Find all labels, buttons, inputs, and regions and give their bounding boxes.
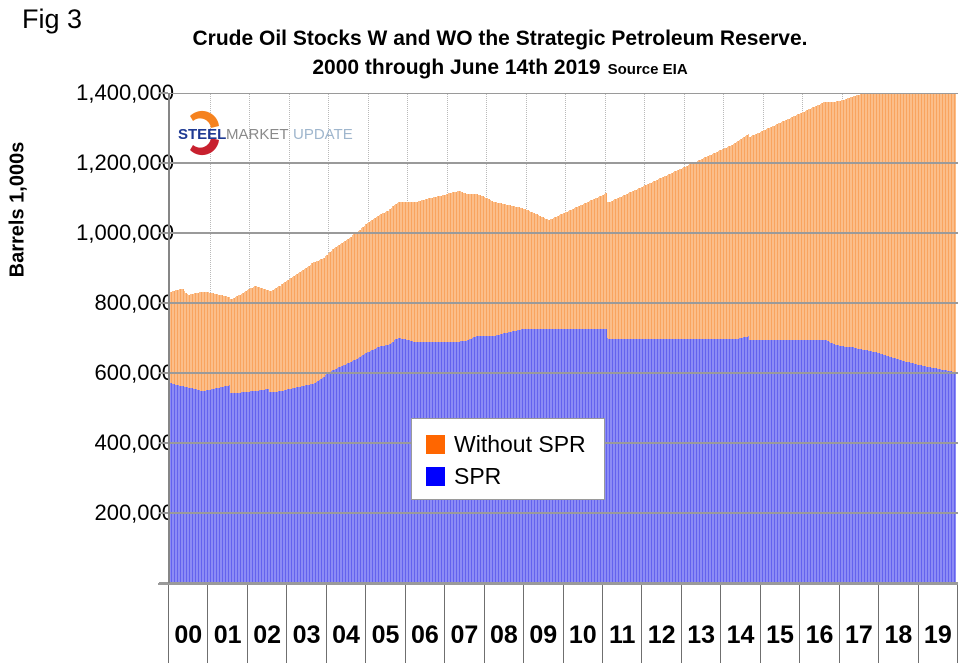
- x-axis-cell-12: 12: [641, 585, 680, 663]
- steel-market-update-logo: STEEL MARKET UPDATE: [176, 107, 356, 159]
- figure-label: Fig 3: [22, 4, 82, 35]
- x-tick-label-19: 19: [924, 599, 952, 650]
- x-axis-cell-08: 08: [484, 585, 523, 663]
- x-axis-cell-00: 00: [168, 585, 207, 663]
- chart-subtitle-row: 2000 through June 14th 2019Source EIA: [120, 54, 880, 83]
- x-axis-cell-01: 01: [207, 585, 246, 663]
- y-tick-mark-0: [159, 582, 168, 584]
- x-axis-cell-03: 03: [286, 585, 325, 663]
- x-axis-cell-04: 04: [326, 585, 365, 663]
- logo-word-market: MARKET: [226, 126, 289, 143]
- legend-swatch-without-spr: [426, 435, 445, 454]
- gridline-200000: [170, 512, 958, 514]
- y-tick-mark-1400000: [159, 92, 168, 94]
- legend-label-spr: SPR: [454, 465, 501, 488]
- x-tick-label-04: 04: [332, 599, 360, 650]
- x-tick-label-11: 11: [609, 599, 635, 650]
- y-tick-mark-1000000: [159, 232, 168, 234]
- logo-word-steel: STEEL: [178, 126, 226, 143]
- x-axis-cell-19: 19: [918, 585, 958, 663]
- x-tick-label-06: 06: [411, 599, 439, 650]
- x-tick-label-12: 12: [648, 599, 676, 650]
- x-tick-label-16: 16: [806, 599, 834, 650]
- y-tick-mark-200000: [159, 512, 168, 514]
- plot-area: [168, 93, 958, 583]
- x-axis-cell-18: 18: [878, 585, 917, 663]
- gridline-800000: [170, 302, 958, 304]
- x-axis-cells: 0001020304050607080910111213141516171819: [168, 585, 958, 663]
- x-tick-label-18: 18: [884, 599, 912, 650]
- bar-column: [955, 93, 957, 583]
- x-axis-cell-14: 14: [720, 585, 759, 663]
- x-tick-label-08: 08: [490, 599, 518, 650]
- y-tick-label-0: -: [14, 570, 174, 596]
- y-tick-label-600000: 600,000: [14, 360, 174, 386]
- y-axis-title: Barrels 1,000s: [7, 110, 30, 310]
- x-tick-label-07: 07: [450, 599, 478, 650]
- x-axis-cell-10: 10: [563, 585, 602, 663]
- plot-inner: [170, 93, 958, 583]
- x-tick-label-10: 10: [569, 599, 597, 650]
- y-tick-label-1400000: 1,400,000: [14, 80, 174, 106]
- y-tick-label-800000: 800,000: [14, 290, 174, 316]
- legend-item-without-spr[interactable]: Without SPR: [426, 428, 604, 460]
- x-tick-label-01: 01: [214, 599, 242, 650]
- x-tick-label-15: 15: [766, 599, 794, 650]
- chart-legend: Without SPR SPR: [411, 418, 605, 500]
- x-axis-cell-07: 07: [444, 585, 483, 663]
- x-axis-cell-15: 15: [760, 585, 799, 663]
- x-tick-label-00: 00: [174, 599, 202, 650]
- y-tick-mark-600000: [159, 372, 168, 374]
- legend-item-spr[interactable]: SPR: [426, 460, 604, 492]
- x-axis-cell-11: 11: [602, 585, 641, 663]
- logo-word-update: UPDATE: [293, 126, 353, 143]
- x-tick-label-14: 14: [727, 599, 755, 650]
- x-axis-cell-09: 09: [523, 585, 562, 663]
- y-tick-mark-400000: [159, 442, 168, 444]
- x-tick-label-17: 17: [845, 599, 873, 650]
- x-axis: 0001020304050607080910111213141516171819: [168, 583, 958, 663]
- chart-title: Crude Oil Stocks W and WO the Strategic …: [120, 25, 880, 52]
- x-axis-cell-05: 05: [365, 585, 404, 663]
- y-tick-mark-1200000: [159, 162, 168, 164]
- gridline-1200000: [170, 162, 958, 164]
- y-tick-mark-800000: [159, 302, 168, 304]
- x-axis-cell-17: 17: [839, 585, 878, 663]
- y-tick-label-200000: 200,000: [14, 500, 174, 526]
- gridline-1400000: [170, 93, 958, 94]
- x-axis-cell-13: 13: [681, 585, 720, 663]
- chart-source: Source EIA: [608, 61, 688, 78]
- chart-subtitle: 2000 through June 14th 2019: [312, 56, 600, 79]
- legend-label-without-spr: Without SPR: [454, 433, 586, 456]
- x-axis-cell-16: 16: [799, 585, 838, 663]
- x-tick-label-02: 02: [253, 599, 281, 650]
- x-tick-label-09: 09: [529, 599, 557, 650]
- logo-svg: STEEL MARKET UPDATE: [176, 107, 356, 159]
- y-tick-label-1200000: 1,200,000: [14, 150, 174, 176]
- y-tick-label-1000000: 1,000,000: [14, 220, 174, 246]
- x-tick-label-13: 13: [687, 599, 715, 650]
- y-tick-label-400000: 400,000: [14, 430, 174, 456]
- x-axis-cell-02: 02: [247, 585, 286, 663]
- bar-segment-spr: [955, 372, 957, 583]
- x-tick-label-03: 03: [293, 599, 321, 650]
- gridline-600000: [170, 372, 958, 374]
- x-tick-label-05: 05: [372, 599, 400, 650]
- stacked-bar-series: [170, 93, 958, 583]
- x-axis-cell-06: 06: [405, 585, 444, 663]
- legend-swatch-spr: [426, 467, 445, 486]
- gridline-1000000: [170, 232, 958, 234]
